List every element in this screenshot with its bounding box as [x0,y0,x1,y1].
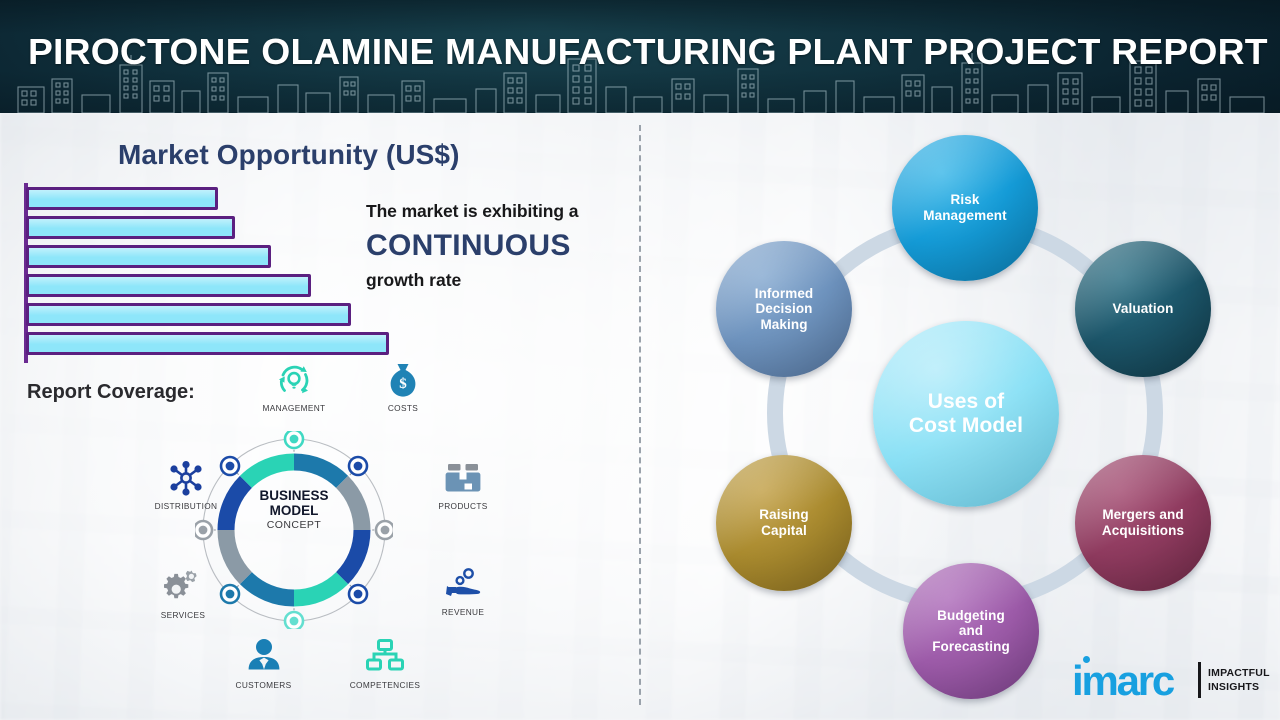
node-risk-management: RiskManagement [892,135,1038,281]
logo-tagline-line1: IMPACTFUL [1208,667,1270,679]
bar-row [26,216,235,239]
coverage-item-costs: $ COSTS [348,361,458,413]
bar-row [26,332,389,355]
bar-row [26,303,351,326]
svg-text:$: $ [399,376,407,392]
callout-emphasis: CONTINUOUS [366,229,634,263]
bar-row [26,274,311,297]
coverage-item-products: PRODUCTS [408,461,518,511]
logo-wordmark: imarc [1072,660,1173,702]
gears-icon [163,568,203,606]
node-budgeting-forecasting: BudgetingandForecasting [903,563,1039,699]
node-center: Uses of Cost Model [873,321,1059,507]
hand-coins-icon [443,567,483,603]
node-label-risk-management: RiskManagement [923,192,1007,223]
coverage-label-products: PRODUCTS [408,501,518,511]
callout-line-3: growth rate [366,270,634,291]
bar-row [26,187,218,210]
panel-divider [639,125,641,705]
lightbulb-recycle-icon [275,361,313,399]
coverage-label-customers: CUSTOMERS [206,680,321,690]
callout-line-1: The market is exhibiting a [366,201,634,222]
node-informed-decision: InformedDecisionMaking [716,241,852,377]
org-chart-icon [365,638,405,676]
node-label-budgeting-forecasting: BudgetingandForecasting [932,608,1010,655]
money-bag-icon: $ [386,361,420,399]
coverage-label-competencies: COMPETENCIES [320,680,450,690]
bar-row [26,245,271,268]
business-model-diagram: BUSINESS MODEL CONCEPT MANAGEMENT [120,363,510,711]
coverage-label-revenue: REVENUE [408,607,518,617]
person-icon [246,638,282,676]
node-valuation: Valuation [1075,241,1211,377]
node-label-raising-capital: RaisingCapital [759,507,808,538]
coverage-label-costs: COSTS [348,403,458,413]
center-line1: Uses of [928,390,1005,413]
node-raising-capital: RaisingCapital [716,455,852,591]
node-label-mergers-acquisitions: Mergers andAcquisitions [1102,507,1184,538]
content-stage: Market Opportunity (US$) The market is e… [0,113,1280,720]
uses-of-cost-model-diagram: Uses of Cost Model RiskManagement Valuat… [655,113,1280,720]
page-header: PIROCTONE OLAMINE MANUFACTURING PLANT PR… [0,0,1280,113]
coverage-item-distribution: DISTRIBUTION [125,461,247,511]
node-label-informed-decision: InformedDecisionMaking [755,286,814,333]
coverage-item-management: MANAGEMENT [234,361,354,413]
market-opportunity-bar-chart [24,183,424,363]
bm-subtitle: CONCEPT [195,519,393,531]
coverage-item-competencies: COMPETENCIES [320,638,450,690]
network-nodes-icon [166,461,206,497]
coverage-label-distribution: DISTRIBUTION [125,501,247,511]
page-title: PIROCTONE OLAMINE MANUFACTURING PLANT PR… [28,31,1268,73]
bm-title-line2: MODEL [270,503,319,518]
coverage-label-services: SERVICES [128,610,238,620]
node-mergers-acquisitions: Mergers andAcquisitions [1075,455,1211,591]
center-line2: Cost Model [909,414,1023,437]
node-label-valuation: Valuation [1113,301,1174,317]
logo-tagline: IMPACTFUL INSIGHTS [1208,666,1270,694]
logo-tagline-line2: INSIGHTS [1208,681,1259,693]
logo-divider [1198,662,1201,698]
bm-title-line1: BUSINESS [259,488,328,503]
market-opportunity-title: Market Opportunity (US$) [118,139,460,171]
growth-callout: The market is exhibiting a CONTINUOUS gr… [366,201,634,291]
coverage-item-services: SERVICES [128,568,238,620]
coverage-item-revenue: REVENUE [408,567,518,617]
box-package-icon [444,461,482,497]
coverage-label-management: MANAGEMENT [234,403,354,413]
imarc-logo: imarc IMPACTFUL INSIGHTS [1072,658,1272,710]
coverage-item-customers: CUSTOMERS [206,638,321,690]
